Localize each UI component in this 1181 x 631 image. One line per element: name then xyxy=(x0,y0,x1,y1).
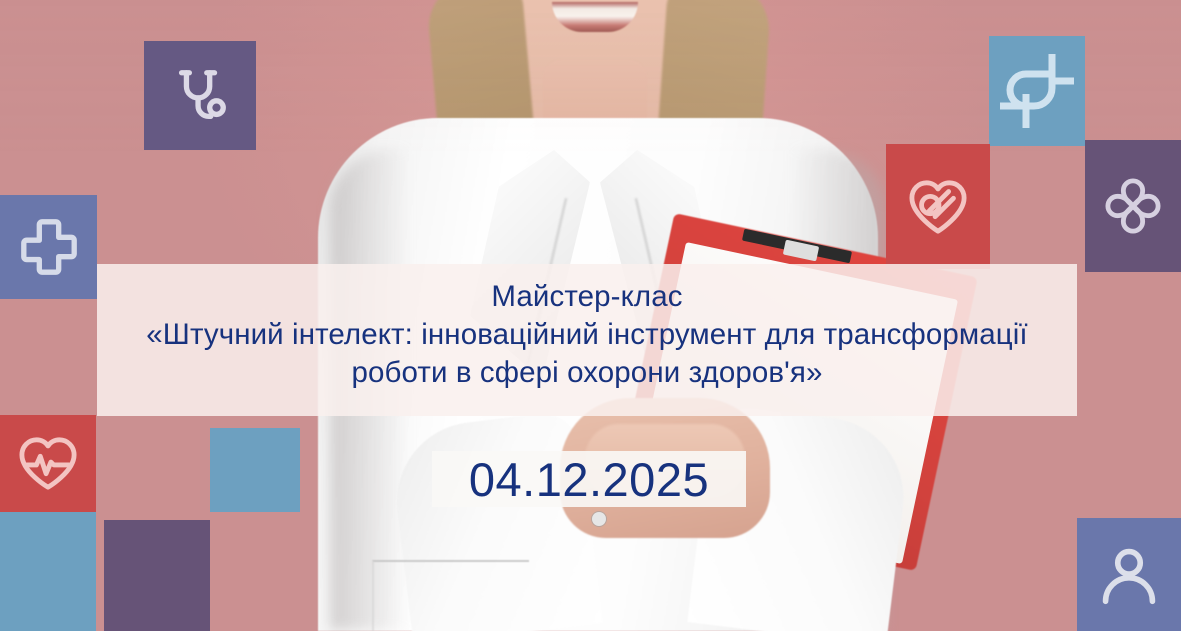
stethoscope-icon xyxy=(169,65,231,127)
tile-heart-pulse xyxy=(0,415,96,512)
tile-purple-bottom-left xyxy=(104,520,210,631)
tile-blue-left-mid xyxy=(210,428,300,512)
user-icon xyxy=(1099,545,1159,605)
tile-medical-cross xyxy=(0,195,97,299)
medical-cross-icon xyxy=(18,216,80,278)
event-date: 04.12.2025 xyxy=(432,451,746,507)
heart-pulse-icon xyxy=(17,435,79,493)
tile-blue-bottom-left xyxy=(0,512,96,631)
care-path-icon xyxy=(1000,54,1074,128)
tile-bandage-knot xyxy=(1085,140,1181,272)
bandage-knot-icon xyxy=(1102,178,1164,234)
tile-care-path xyxy=(989,36,1085,146)
tile-heart-bandage xyxy=(886,144,990,269)
poster-title: Майстер-клас «Штучний інтелект: інноваці… xyxy=(97,278,1077,392)
tile-stethoscope xyxy=(144,41,256,150)
heart-bandage-icon xyxy=(906,178,970,236)
tile-user xyxy=(1077,518,1181,631)
event-poster: Майстер-клас «Штучний інтелект: інноваці… xyxy=(0,0,1181,631)
